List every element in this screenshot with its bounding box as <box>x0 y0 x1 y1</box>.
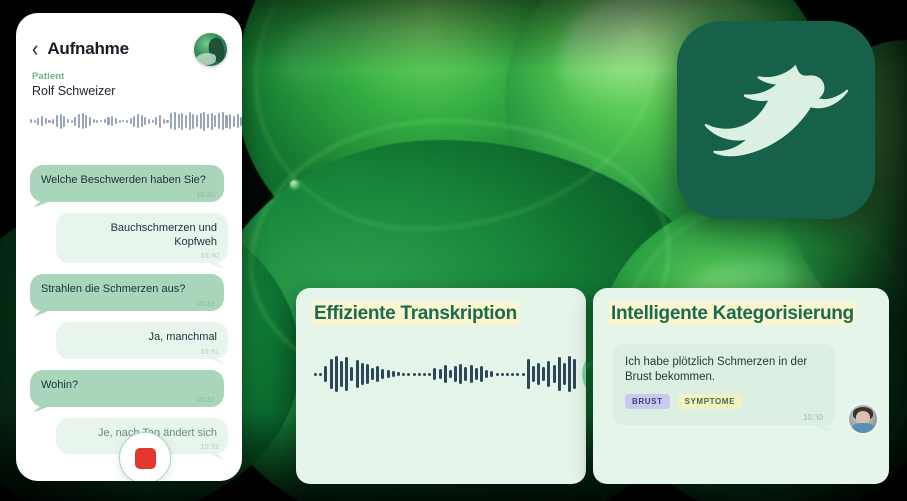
waveform-bar <box>159 115 161 128</box>
feature-card-categorisation: Intelligente Kategorisierung Ich habe pl… <box>593 288 889 484</box>
waveform-bar <box>155 117 157 125</box>
feature-card-transcription: Effiziente Transkription 99.7 % <box>296 288 586 484</box>
waveform-bar <box>428 373 431 376</box>
waveform-bar <box>122 120 124 122</box>
waveform-bar <box>74 117 76 126</box>
waveform-bar <box>170 113 172 129</box>
message-timestamp: 10:30 <box>196 190 215 199</box>
waveform-bar <box>119 120 121 123</box>
waveform-bar <box>475 368 478 380</box>
waveform-bar <box>501 373 504 376</box>
waveform-bar <box>459 364 462 384</box>
waveform-bar <box>340 361 343 387</box>
waveform-bar <box>547 361 550 387</box>
waveform-bar <box>45 118 47 124</box>
waveform-bar <box>558 357 561 391</box>
waveform-bar <box>485 370 488 378</box>
avatar <box>847 403 879 435</box>
avatar-body <box>852 423 873 435</box>
waveform-bar <box>37 118 39 125</box>
message-timestamp: 10:31 <box>200 347 219 356</box>
waveform-bar <box>52 119 54 124</box>
waveform-bar <box>211 113 213 130</box>
waveform-bar <box>402 373 405 376</box>
waveform-bar <box>449 370 452 378</box>
waveform-bar <box>413 373 416 376</box>
message-timestamp: 10:32 <box>196 395 215 404</box>
message-text: Ich habe plötzlich Schmerzen in der Brus… <box>625 355 823 385</box>
waveform-bar <box>439 369 442 379</box>
waveform-bar <box>229 114 231 129</box>
waveform-bar <box>152 120 154 123</box>
recording-waveform <box>30 108 228 134</box>
card-title: Effiziente Transkription <box>312 302 519 325</box>
waveform-bar <box>563 363 566 385</box>
message-timestamp: 10:30 <box>803 413 823 422</box>
patient-label: Patient <box>32 71 226 82</box>
message-text: Strahlen die Schmerzen aus? <box>41 283 213 297</box>
waveform-bar <box>89 117 91 126</box>
waveform-bar <box>553 365 556 383</box>
message-text: Ja, manchmal <box>67 331 217 345</box>
waveform-bar <box>218 113 220 129</box>
waveform-bar <box>319 373 322 376</box>
waveform-bar <box>532 366 535 382</box>
waveform-bar <box>490 371 493 377</box>
waveform-bar <box>392 371 395 377</box>
waveform-bar <box>203 112 205 131</box>
chat-message-list[interactable]: Welche Beschwerden haben Sie?10:30Bauchs… <box>16 159 242 481</box>
waveform-bar <box>48 120 50 123</box>
waveform-bar <box>111 116 113 126</box>
waveform-bar <box>240 117 242 126</box>
waveform-bar <box>41 116 43 126</box>
waveform-bar <box>511 373 514 376</box>
waveform-bar <box>366 364 369 384</box>
waveform-bar <box>371 368 374 380</box>
waveform-bar <box>330 359 333 389</box>
waveform-bar <box>130 118 132 124</box>
waveform-bar <box>93 119 95 123</box>
accuracy-text: 99.7 % <box>582 348 586 400</box>
mermaid-logo-icon <box>691 35 861 205</box>
waveform-bar <box>345 357 348 391</box>
waveform-bar <box>361 363 364 385</box>
chat-message-bubble: Wohin?10:32 <box>30 370 224 407</box>
chat-message-bubble: Ja, manchmal10:31 <box>56 322 228 359</box>
record-stop-button[interactable] <box>119 432 171 481</box>
waveform-bar <box>107 117 109 125</box>
patient-name: Rolf Schweizer <box>32 84 226 98</box>
waveform-bar <box>464 367 467 381</box>
waveform-bar <box>71 120 73 123</box>
app-logo-tile <box>677 21 875 219</box>
chat-message-bubble: Bauchschmerzen und Kopfweh10:30 <box>56 213 228 264</box>
categorisation-body: Ich habe plötzlich Schmerzen in der Brus… <box>593 326 889 425</box>
waveform-bar <box>100 120 102 122</box>
waveform-bar <box>568 356 571 392</box>
waveform-bar <box>34 120 36 123</box>
waveform-bar <box>63 116 65 127</box>
avatar-face <box>856 411 869 423</box>
waveform-bar <box>376 366 379 382</box>
message-timestamp: 10:31 <box>196 299 215 308</box>
waveform-bar <box>237 114 239 128</box>
back-chevron-icon[interactable]: ‹ <box>32 38 38 60</box>
waveform-bar <box>174 112 176 130</box>
waveform-bar <box>527 359 530 389</box>
waveform-bar <box>144 117 146 125</box>
waveform-bar <box>196 115 198 127</box>
avatar[interactable] <box>194 33 227 66</box>
waveform-bar <box>30 119 32 123</box>
message-timestamp: 10:30 <box>200 251 219 260</box>
waveform-bar <box>104 119 106 123</box>
waveform-bar <box>56 115 58 127</box>
card-title: Intelligente Kategorisierung <box>609 302 856 325</box>
waveform-bar <box>480 366 483 382</box>
chat-message-bubble: Ich habe plötzlich Schmerzen in der Brus… <box>613 344 835 425</box>
transcription-body: 99.7 % <box>296 326 586 400</box>
waveform-bar <box>387 370 390 378</box>
waveform-bar <box>185 115 187 128</box>
waveform-bar <box>115 118 117 124</box>
waveform-bar <box>496 373 499 376</box>
chat-message-bubble: Strahlen die Schmerzen aus?10:31 <box>30 274 224 311</box>
waveform-bar <box>470 365 473 383</box>
waveform-bar <box>60 114 62 129</box>
waveform-bar <box>126 120 128 123</box>
waveform-bar <box>356 360 359 388</box>
waveform-bar <box>433 368 436 380</box>
avatar-shape <box>196 53 216 64</box>
waveform-bar <box>222 112 224 130</box>
waveform-bar <box>133 116 135 127</box>
waveform-bar <box>225 115 227 128</box>
card-title-wrap: Intelligente Kategorisierung <box>593 288 889 326</box>
waveform-bar <box>181 113 183 130</box>
tag-list: BRUSTSYMPTOME <box>625 394 823 409</box>
waveform-bar <box>141 115 143 127</box>
message-text: Welche Beschwerden haben Sie? <box>41 174 213 188</box>
waveform-bar <box>516 373 519 376</box>
waveform-bar <box>163 119 165 124</box>
waveform-bar <box>324 366 327 382</box>
category-tag[interactable]: BRUST <box>625 394 670 409</box>
waveform-bar <box>537 363 540 385</box>
waveform-bar <box>335 356 338 392</box>
card-title-wrap: Effiziente Transkription <box>296 288 586 326</box>
phone-header: ‹ Aufnahme <box>16 13 242 59</box>
message-text: Bauchschmerzen und Kopfweh <box>67 222 217 250</box>
waveform-bar <box>67 119 69 123</box>
waveform-bar <box>200 113 202 129</box>
waveform-bar <box>506 373 509 376</box>
category-tag[interactable]: SYMPTOME <box>678 394 742 409</box>
waveform-bar <box>148 119 150 124</box>
waveform-bar <box>207 114 209 128</box>
waveform-bar <box>381 369 384 379</box>
waveform-bar <box>407 373 410 376</box>
waveform-bar <box>96 120 98 123</box>
waveform-bar <box>418 373 421 376</box>
waveform-bar <box>350 367 353 381</box>
waveform-bar <box>233 116 235 127</box>
waveform-bar <box>137 114 139 128</box>
waveform-bar <box>166 120 168 123</box>
waveform-bar <box>542 367 545 381</box>
waveform-bar <box>573 359 576 389</box>
page-title: Aufnahme <box>47 39 129 59</box>
waveform-bar <box>522 373 525 376</box>
waveform-bar <box>78 114 80 128</box>
waveform-bar <box>82 113 84 129</box>
accuracy-ring: 99.7 % <box>582 348 586 400</box>
message-text: Wohin? <box>41 379 213 393</box>
waveform-bar <box>178 114 180 128</box>
waveform-bar <box>454 366 457 382</box>
stop-square-icon <box>135 448 156 469</box>
waveform-bar <box>397 372 400 376</box>
waveform-bar <box>214 115 216 127</box>
phone-screen-card: ‹ Aufnahme Patient Rolf Schweizer Welche… <box>16 13 242 481</box>
transcription-waveform <box>314 348 576 400</box>
waveform-bar <box>85 115 87 128</box>
waveform-bar <box>314 373 317 376</box>
waveform-bar <box>444 365 447 383</box>
chat-message-bubble: Welche Beschwerden haben Sie?10:30 <box>30 165 224 202</box>
message-timestamp: 10:32 <box>200 442 219 451</box>
waveform-bar <box>189 112 191 130</box>
waveform-bar <box>423 373 426 376</box>
waveform-bar <box>192 114 194 129</box>
